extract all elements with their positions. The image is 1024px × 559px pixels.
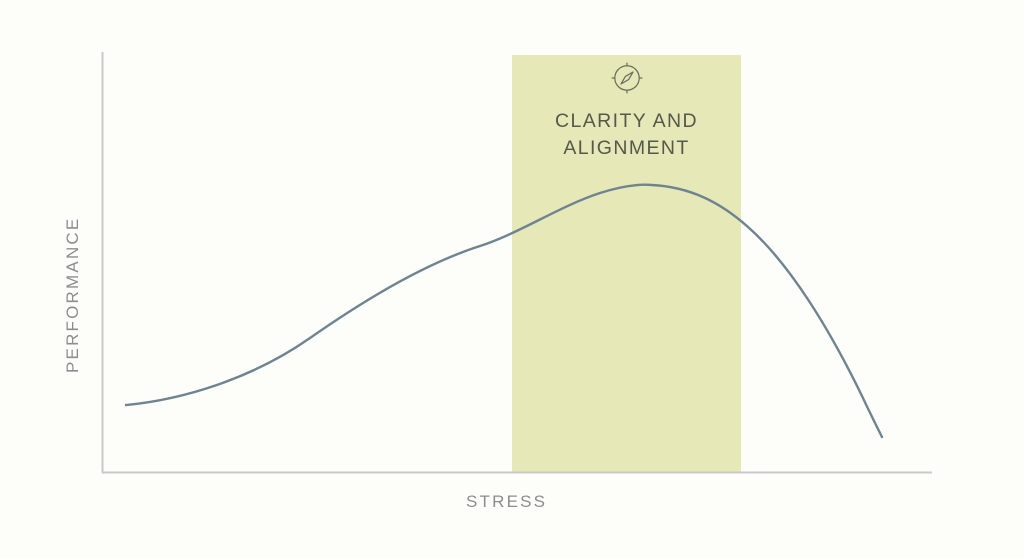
chart-plot-area bbox=[0, 0, 1024, 559]
y-axis-label: PERFORMANCE bbox=[63, 217, 83, 373]
x-axis-label: STRESS bbox=[466, 492, 547, 512]
optimal-zone-band bbox=[512, 55, 741, 472]
performance-stress-chart: CLARITY AND ALIGNMENT PERFORMANCE STRESS bbox=[0, 0, 1024, 559]
performance-curve bbox=[126, 185, 882, 437]
